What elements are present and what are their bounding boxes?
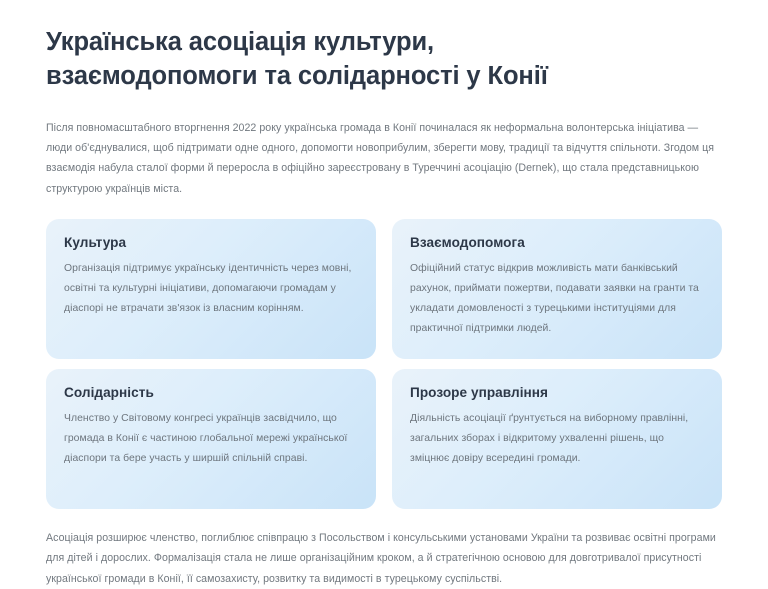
info-card-transparent-governance: Прозоре управління Діяльність асоціації … bbox=[392, 369, 722, 509]
info-card-title: Взаємодопомога bbox=[410, 234, 704, 252]
info-card-culture: Культура Організація підтримує українськ… bbox=[46, 219, 376, 359]
page-title-line-1: Українська асоціація культури, bbox=[46, 26, 686, 60]
info-card-text: Організація підтримує українську ідентич… bbox=[64, 259, 358, 319]
info-card-text: Діяльність асоціації ґрунтується на вибо… bbox=[410, 409, 704, 469]
info-card-title: Культура bbox=[64, 234, 358, 252]
info-card-text: Членство у Світовому конгресі українців … bbox=[64, 409, 358, 469]
page-title-line-2: взаємодопомоги та солідарності у Конії bbox=[46, 60, 686, 94]
info-card-grid: Культура Організація підтримує українськ… bbox=[46, 219, 722, 509]
info-card-title: Прозоре управління bbox=[410, 384, 704, 402]
outro-paragraph: Асоціація розширює членство, поглиблює с… bbox=[46, 528, 722, 589]
page-title: Українська асоціація культури, взаємодоп… bbox=[46, 0, 686, 94]
info-card-text: Офіційний статус відкрив можливість мати… bbox=[410, 259, 704, 339]
info-card-title: Солідарність bbox=[64, 384, 358, 402]
page-root: Українська асоціація культури, взаємодоп… bbox=[0, 0, 768, 575]
intro-paragraph: Після повномасштабного вторгнення 2022 р… bbox=[46, 118, 722, 199]
info-card-solidarity: Солідарність Членство у Світовому конгре… bbox=[46, 369, 376, 509]
info-card-mutual-aid: Взаємодопомога Офіційний статус відкрив … bbox=[392, 219, 722, 359]
